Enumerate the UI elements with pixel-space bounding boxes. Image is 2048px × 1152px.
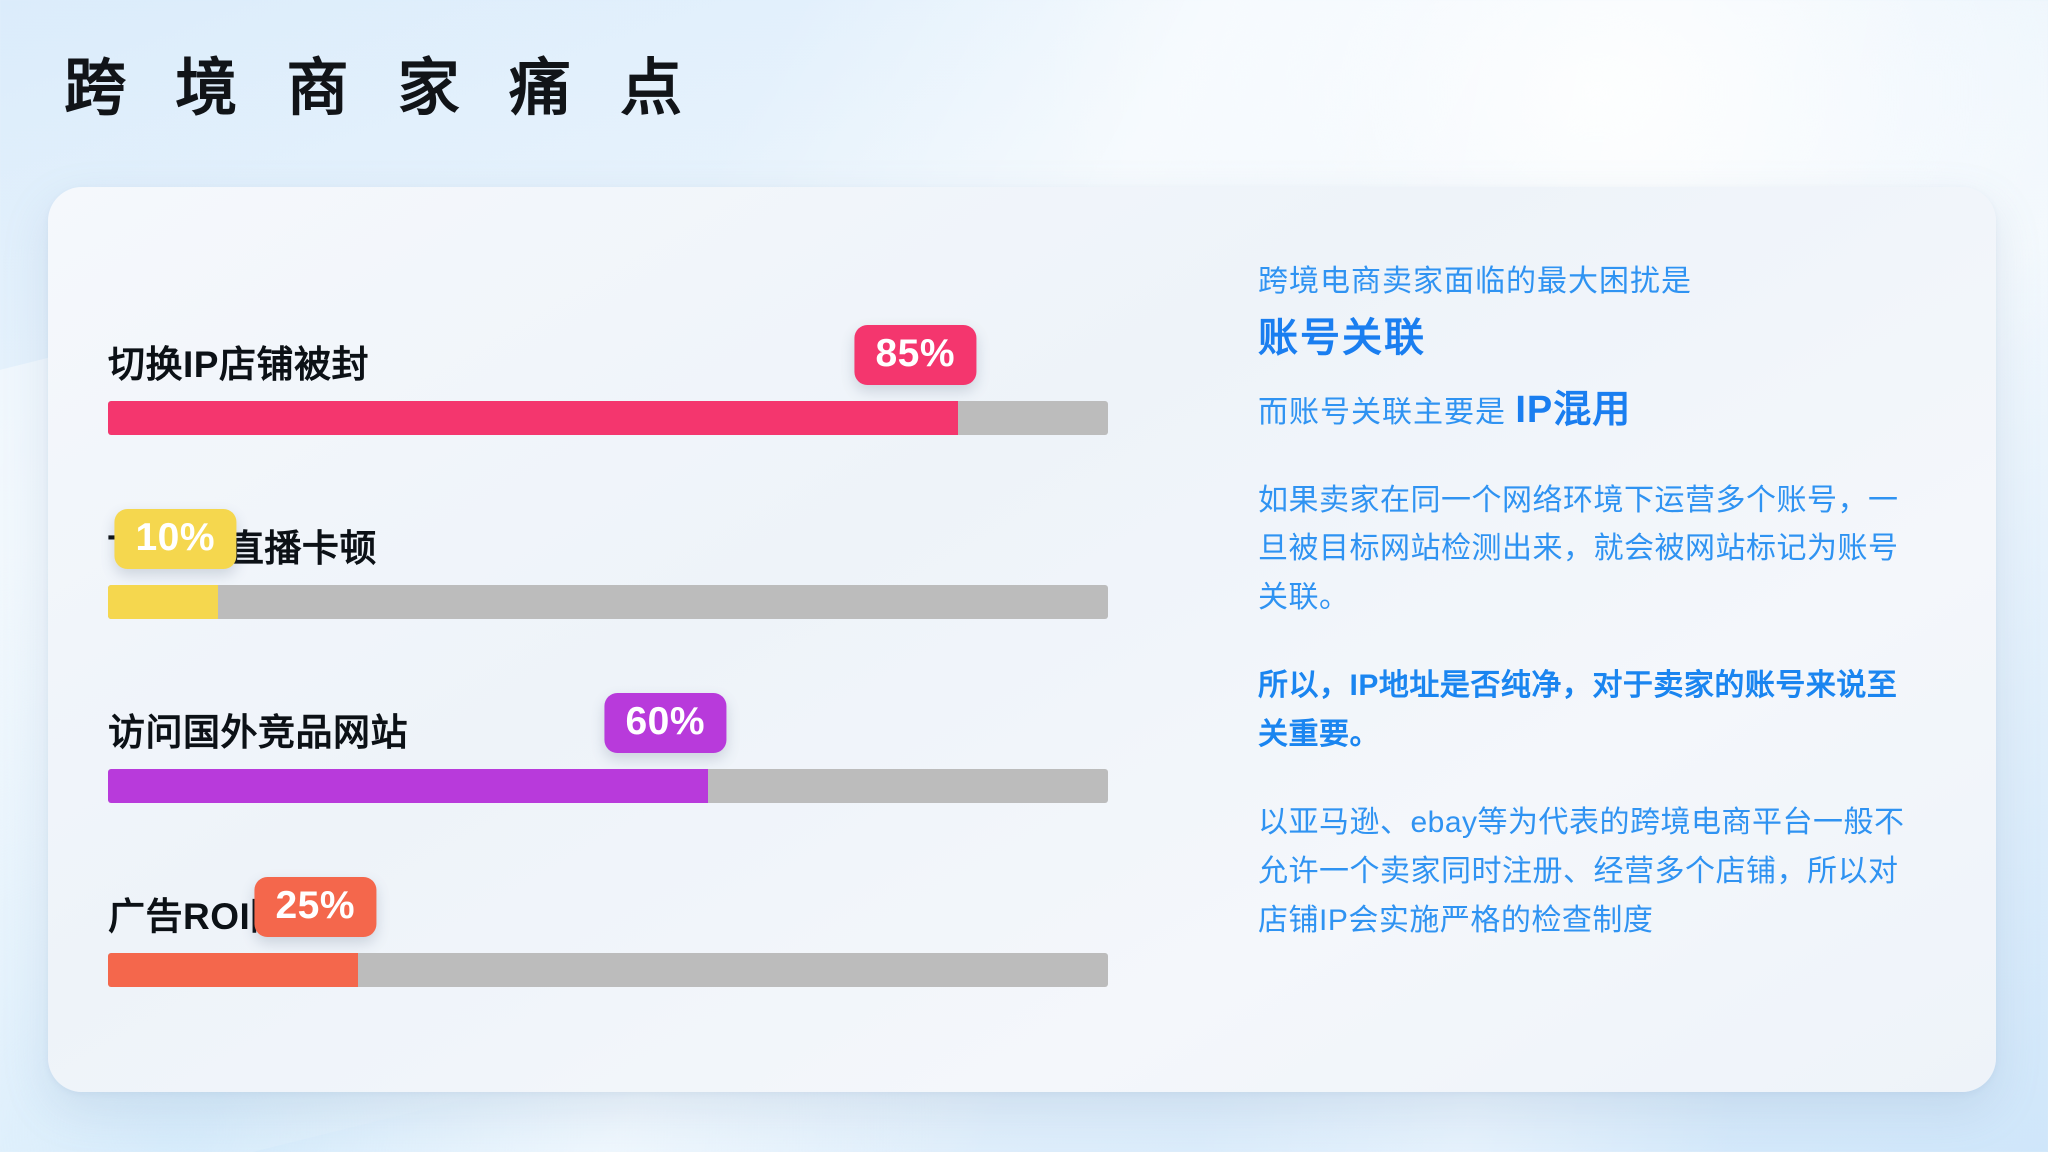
bar-header: 切换IP店铺被封85% [108, 309, 1218, 383]
bar-row: 切换IP店铺被封85% [108, 309, 1218, 435]
bar-label: 访问国外竞品网站 [108, 714, 408, 751]
explanation-panel: 跨境电商卖家面临的最大困扰是 账号关联 而账号关联主要是 IP混用 如果卖家在同… [1218, 187, 1996, 1092]
bar-fill [108, 953, 358, 987]
secondary-line: 而账号关联主要是 IP混用 [1258, 378, 1926, 437]
bar-header: 访问国外竞品网站60% [108, 677, 1218, 751]
paragraph-3: 以亚马逊、ebay等为代表的跨境电商平台一般不允许一个卖家同时注册、经营多个店铺… [1258, 799, 1926, 945]
paragraph-2: 所以，IP地址是否纯净，对于卖家的账号来说至关重要。 [1258, 662, 1926, 759]
bar-row: 广告ROI降低25% [108, 861, 1218, 987]
bar-track [108, 769, 1108, 803]
bar-track [108, 401, 1108, 435]
bar-track [108, 953, 1108, 987]
secondary-line-highlight: IP混用 [1515, 389, 1631, 431]
paragraph-1: 如果卖家在同一个网络环境下运营多个账号，一旦被目标网站检测出来，就会被网站标记为… [1258, 477, 1926, 623]
bar-header: TikTok直播卡顿10% [108, 493, 1218, 567]
content-card: 切换IP店铺被封85%TikTok直播卡顿10%访问国外竞品网站60%广告ROI… [48, 187, 1996, 1092]
bar-chart: 切换IP店铺被封85%TikTok直播卡顿10%访问国外竞品网站60%广告ROI… [48, 187, 1218, 1092]
bar-row: 访问国外竞品网站60% [108, 677, 1218, 803]
bar-fill [108, 585, 218, 619]
secondary-line-prefix: 而账号关联主要是 [1258, 396, 1515, 429]
page-title: 跨 境 商 家 痛 点 [64, 56, 698, 121]
lead-text: 跨境电商卖家面临的最大困扰是 [1258, 259, 1926, 304]
bar-value-badge[interactable]: 85% [854, 325, 976, 385]
highlight-heading: 账号关联 [1258, 314, 1926, 362]
bar-value-badge[interactable]: 25% [254, 877, 376, 937]
bar-fill [108, 769, 708, 803]
bar-track [108, 585, 1108, 619]
bar-label: 切换IP店铺被封 [108, 346, 369, 383]
bar-header: 广告ROI降低25% [108, 861, 1218, 935]
bar-value-badge[interactable]: 60% [604, 693, 726, 753]
bar-row: TikTok直播卡顿10% [108, 493, 1218, 619]
bar-value-badge[interactable]: 10% [114, 509, 236, 569]
bar-fill [108, 401, 958, 435]
